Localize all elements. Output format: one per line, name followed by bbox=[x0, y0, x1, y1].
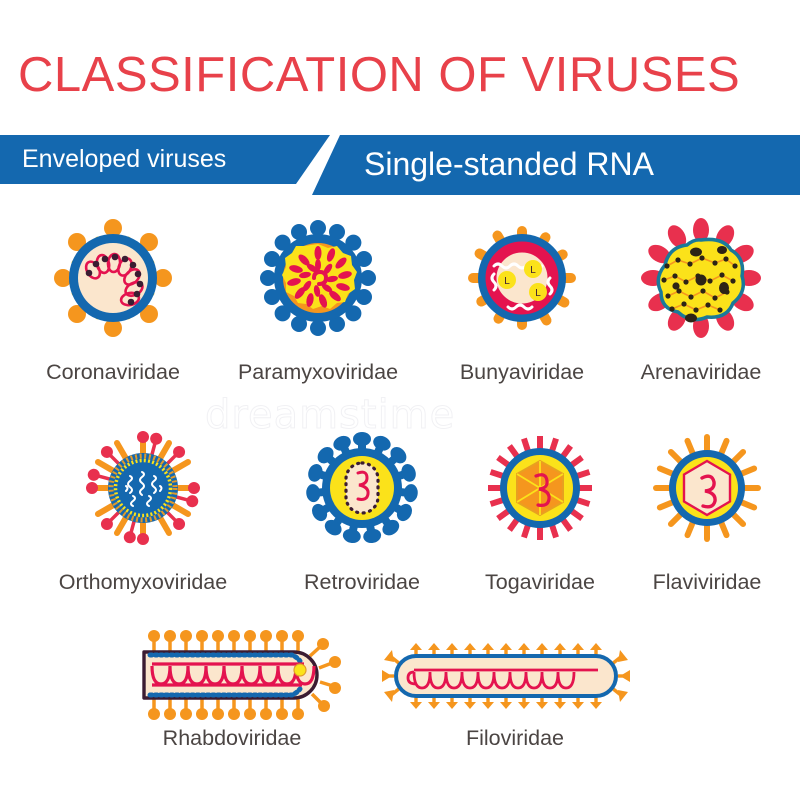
banner-right-label: Single-standed RNA bbox=[364, 146, 654, 183]
togaviridae-illustration bbox=[450, 428, 630, 568]
banner-single-stranded-rna: Single-standed RNA bbox=[312, 135, 800, 195]
virus-label: Filoviridae bbox=[380, 726, 650, 751]
retroviridae-illustration bbox=[272, 428, 452, 568]
virus-label: Bunyaviridae bbox=[432, 360, 612, 385]
virus-card-coronaviridae: Coronaviridae bbox=[18, 218, 208, 385]
virus-card-flaviviridae: Flaviviridae bbox=[622, 428, 792, 595]
flaviviridae-illustration bbox=[622, 428, 792, 568]
virus-label: Paramyxoviridae bbox=[218, 360, 418, 385]
page-title: CLASSIFICATION OF VIRUSES bbox=[18, 47, 782, 103]
filoviridae-illustration bbox=[380, 628, 650, 724]
virus-label: Orthomyxoviridae bbox=[18, 570, 268, 595]
svg-text:L: L bbox=[504, 276, 510, 287]
infographic-page: CLASSIFICATION OF VIRUSES Enveloped viru… bbox=[0, 0, 800, 800]
bunyaviridae-illustration: L L L bbox=[432, 218, 612, 358]
virus-card-orthomyxoviridae: Orthomyxoviridae bbox=[18, 428, 268, 595]
virus-label: Togaviridae bbox=[450, 570, 630, 595]
banner-enveloped-viruses: Enveloped viruses bbox=[0, 135, 330, 184]
coronaviridae-illustration bbox=[18, 218, 208, 358]
arenaviridae-illustration bbox=[612, 218, 790, 358]
banner-left-label: Enveloped viruses bbox=[22, 145, 226, 174]
virus-card-retroviridae: Retroviridae bbox=[272, 428, 452, 595]
svg-text:L: L bbox=[530, 265, 536, 276]
paramyxoviridae-illustration bbox=[218, 218, 418, 358]
virus-card-paramyxoviridae: Paramyxoviridae bbox=[218, 218, 418, 385]
virus-label: Arenaviridae bbox=[612, 360, 790, 385]
virus-card-filoviridae: Filoviridae bbox=[380, 628, 650, 751]
svg-text:L: L bbox=[535, 288, 541, 299]
orthomyxoviridae-illustration bbox=[18, 428, 268, 568]
virus-label: Retroviridae bbox=[272, 570, 452, 595]
virus-card-rhabdoviridae: Rhabdoviridae bbox=[122, 628, 342, 751]
virus-label: Rhabdoviridae bbox=[122, 726, 342, 751]
virus-label: Coronaviridae bbox=[18, 360, 208, 385]
virus-card-togaviridae: Togaviridae bbox=[450, 428, 630, 595]
virus-label: Flaviviridae bbox=[622, 570, 792, 595]
rhabdoviridae-illustration bbox=[122, 628, 342, 724]
virus-card-arenaviridae: Arenaviridae bbox=[612, 218, 790, 385]
virus-card-bunyaviridae: L L L Bunyaviridae bbox=[432, 218, 612, 385]
